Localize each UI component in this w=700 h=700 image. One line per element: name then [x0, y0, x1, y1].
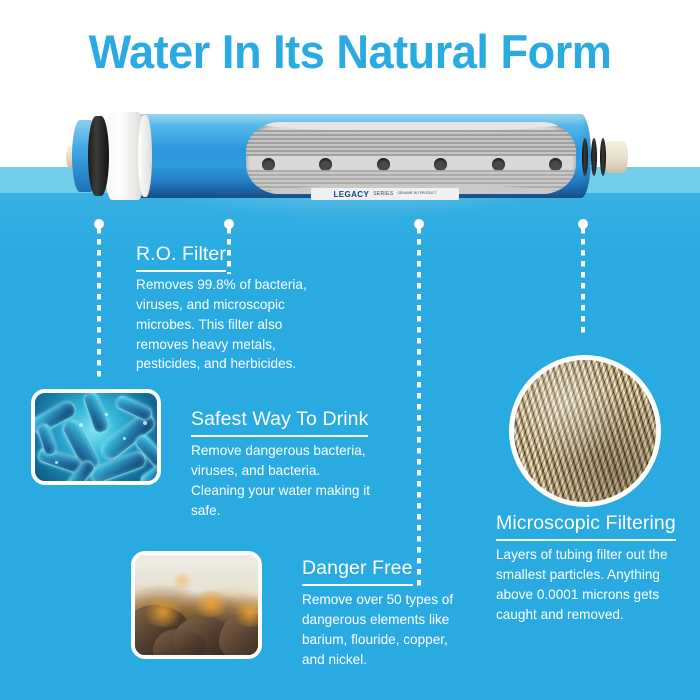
rust-corrosion-photo [131, 551, 262, 659]
connector-dot-right [578, 219, 588, 229]
section-heading-microscopic-filtering: Microscopic Filtering [496, 512, 676, 541]
section-heading-danger-free: Danger Free [302, 557, 413, 586]
heading-text-microscopic-filtering: Microscopic Filtering [496, 512, 676, 534]
section-heading-ro-filter: R.O. Filter [136, 243, 226, 272]
connector-line-ro-filter [227, 228, 231, 274]
section-heading-safest-way-to-drink: Safest Way To Drink [191, 408, 368, 437]
product-brand-text: LEGACY [333, 190, 369, 199]
product-blue-housing: LEGACY SERIES GENUINE RO PRODUCT [121, 114, 591, 198]
heading-rule-safest-way-to-drink [191, 435, 368, 437]
connector-line-left [97, 228, 101, 378]
heading-text-safest-way-to-drink: Safest Way To Drink [191, 408, 368, 430]
rust-photo-inner [135, 555, 258, 655]
connector-line-center [417, 228, 421, 586]
heading-rule-ro-filter [136, 270, 226, 272]
connector-dot-center [414, 219, 424, 229]
page-title: Water In Its Natural Form [14, 24, 686, 79]
bacteria-photo [31, 389, 161, 485]
heading-text-ro-filter: R.O. Filter [136, 243, 226, 265]
section-body-safest-way-to-drink: Remove dangerous bacteria, viruses, and … [191, 441, 376, 520]
heading-text-danger-free: Danger Free [302, 557, 413, 579]
product-white-collar [138, 115, 152, 197]
product-cutaway-window [246, 122, 576, 194]
membrane-ribs-upper [246, 130, 576, 156]
heading-rule-microscopic-filtering [496, 539, 676, 541]
product-orings-rear [582, 138, 622, 178]
section-body-ro-filter: Removes 99.8% of bacteria, viruses, and … [136, 275, 312, 374]
product-fine-print: GENUINE RO PRODUCT [397, 192, 436, 196]
section-body-microscopic-filtering: Layers of tubing filter out the smallest… [496, 545, 680, 624]
membrane-cross-section-photo [509, 355, 661, 507]
product-oring-front [88, 116, 109, 196]
ro-membrane-product-image: LEGACY SERIES GENUINE RO PRODUCT [66, 108, 636, 206]
connector-line-right [581, 228, 585, 336]
connector-dot-ro-filter [224, 219, 234, 229]
heading-rule-danger-free [302, 584, 413, 586]
bacteria-photo-inner [35, 393, 157, 481]
product-series-text: SERIES [373, 191, 393, 197]
infographic-poster: Water In Its Natural Form LEGACY SERIES … [0, 0, 700, 700]
connector-dot-left [94, 219, 104, 229]
membrane-shading [514, 360, 656, 502]
section-body-danger-free: Remove over 50 types of dangerous elemen… [302, 590, 466, 669]
product-brand-label: LEGACY SERIES GENUINE RO PRODUCT [311, 188, 459, 200]
